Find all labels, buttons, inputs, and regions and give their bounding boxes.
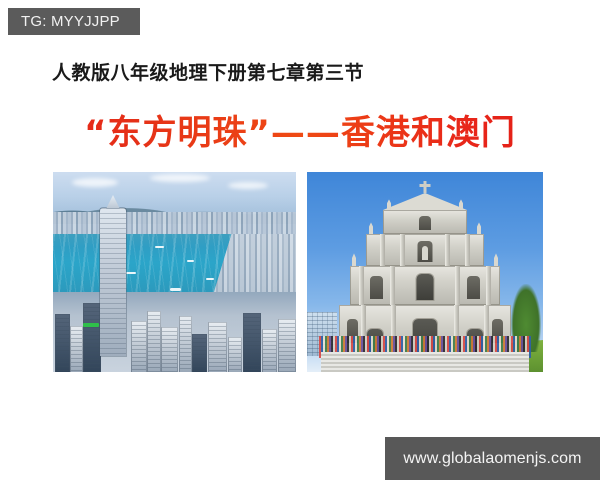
tg-badge: TG: MYYJJPP bbox=[8, 8, 140, 35]
st-pauls-facade bbox=[339, 196, 511, 356]
photo-row bbox=[53, 172, 543, 372]
green-rooftop bbox=[83, 323, 99, 327]
ifc-tower bbox=[100, 208, 126, 356]
column bbox=[455, 266, 460, 304]
boat bbox=[155, 246, 164, 248]
column bbox=[486, 266, 491, 304]
tower bbox=[147, 311, 161, 372]
facade-tier-4 bbox=[383, 210, 467, 234]
boat bbox=[170, 288, 181, 291]
niche bbox=[467, 276, 480, 299]
boat bbox=[126, 272, 136, 274]
facade-tier-3 bbox=[366, 234, 484, 266]
tower bbox=[228, 337, 242, 372]
tower bbox=[192, 334, 207, 372]
tower bbox=[131, 321, 147, 372]
boat bbox=[187, 260, 194, 262]
stone-steps bbox=[321, 352, 529, 372]
cross-icon bbox=[424, 181, 427, 193]
near-skyline bbox=[53, 292, 296, 372]
niche bbox=[419, 216, 431, 230]
tower bbox=[83, 303, 101, 372]
cloud-icon bbox=[150, 174, 210, 182]
finial bbox=[494, 253, 498, 266]
tower bbox=[243, 313, 261, 372]
tower bbox=[262, 329, 277, 372]
facade-tier-2 bbox=[350, 266, 500, 304]
lesson-subtitle: 人教版八年级地理下册第七章第三节 bbox=[52, 58, 364, 85]
column bbox=[465, 234, 470, 266]
column bbox=[359, 266, 364, 304]
column bbox=[380, 234, 385, 266]
tower bbox=[70, 326, 83, 372]
pediment bbox=[383, 193, 467, 210]
column bbox=[445, 234, 450, 266]
tg-badge-label: TG: MYYJJPP bbox=[21, 13, 120, 30]
finial bbox=[369, 222, 373, 234]
finial bbox=[352, 253, 356, 266]
macau-ruins-illustration bbox=[307, 172, 543, 372]
tower bbox=[208, 322, 227, 372]
boat bbox=[206, 278, 214, 280]
hong-kong-skyline-illustration bbox=[53, 172, 296, 372]
watermark-url: www.globalaomenjs.com bbox=[403, 450, 581, 468]
watermark-banner: www.globalaomenjs.com bbox=[385, 437, 600, 480]
tower bbox=[179, 316, 192, 372]
finial bbox=[477, 222, 481, 234]
column bbox=[400, 234, 405, 266]
tower bbox=[55, 314, 70, 372]
niche bbox=[370, 276, 383, 299]
page-title: “东方明珠”——香港和澳门 bbox=[0, 105, 600, 154]
photo-macau-ruins-of-st-pauls bbox=[307, 172, 543, 372]
tower bbox=[278, 319, 296, 372]
photo-hong-kong-victoria-harbour bbox=[53, 172, 296, 372]
window bbox=[417, 274, 434, 300]
statue bbox=[422, 246, 428, 260]
column bbox=[390, 266, 395, 304]
cloud-icon bbox=[228, 182, 268, 189]
tower bbox=[161, 327, 178, 372]
